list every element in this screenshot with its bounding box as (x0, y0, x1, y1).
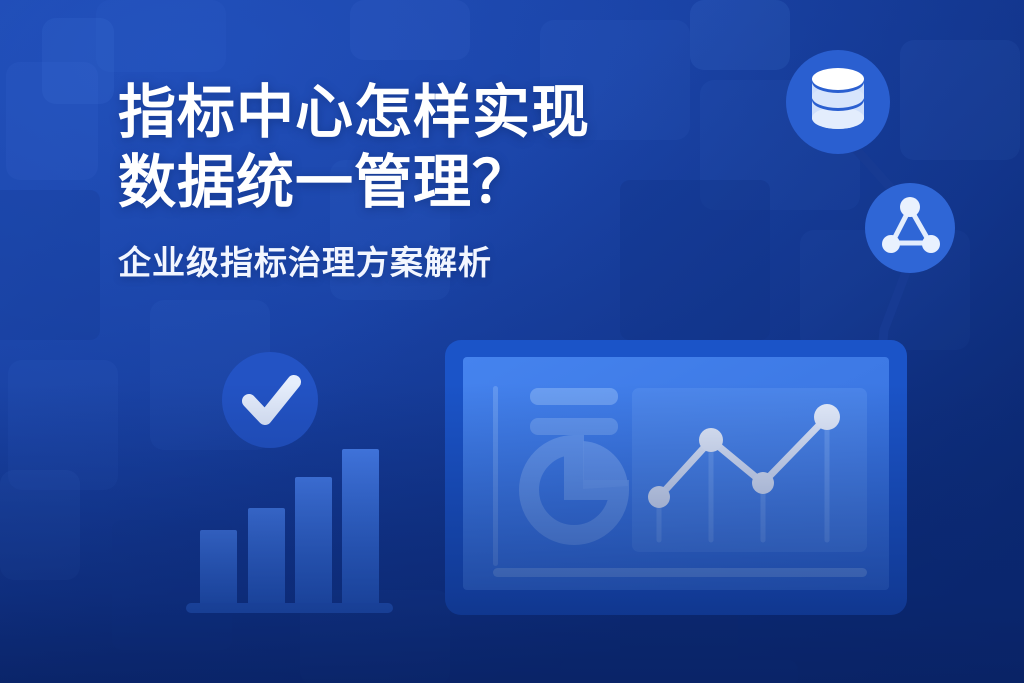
poster-canvas: 指标中心怎样实现 数据统一管理？ 企业级指标治理方案解析 (0, 0, 1024, 683)
headline-line-2: 数据统一管理？ (118, 148, 758, 218)
network-badge (865, 183, 955, 273)
headline-block: 指标中心怎样实现 数据统一管理？ 企业级指标治理方案解析 (118, 78, 758, 284)
headline-line-1: 指标中心怎样实现 (118, 78, 758, 148)
bottom-shadow-overlay (0, 383, 1024, 683)
database-icon (812, 68, 864, 129)
database-badge (786, 50, 890, 154)
headline-subtitle: 企业级指标治理方案解析 (118, 242, 758, 284)
